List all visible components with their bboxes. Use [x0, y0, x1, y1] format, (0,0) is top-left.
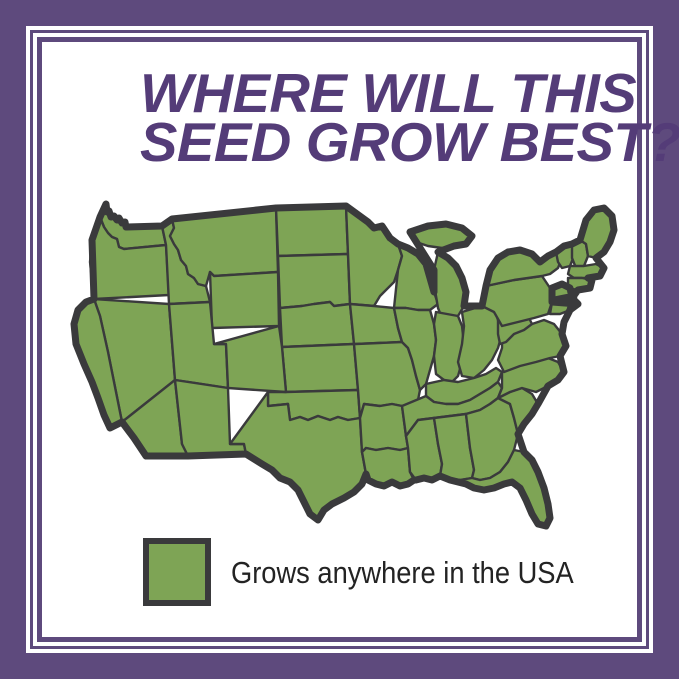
state-minnesota	[346, 206, 402, 306]
infographic-canvas: WHERE WILL THIS SEED GROW BEST?	[0, 0, 679, 679]
legend-label: Grows anywhere in the USA	[231, 557, 574, 588]
page-title: WHERE WILL THIS SEED GROW BEST?	[140, 69, 560, 167]
state-north-dakota	[276, 206, 348, 256]
map-legend: Grows anywhere in the USA	[143, 538, 620, 606]
state-arkansas	[360, 404, 408, 452]
state-wyoming	[210, 272, 279, 328]
state-south-dakota	[278, 254, 350, 308]
page-title-line-2: SEED GROW BEST?	[140, 118, 568, 167]
united-states-map	[62, 192, 622, 532]
state-nebraska	[280, 302, 354, 347]
state-kansas	[282, 344, 358, 392]
legend-color-swatch	[143, 538, 211, 606]
